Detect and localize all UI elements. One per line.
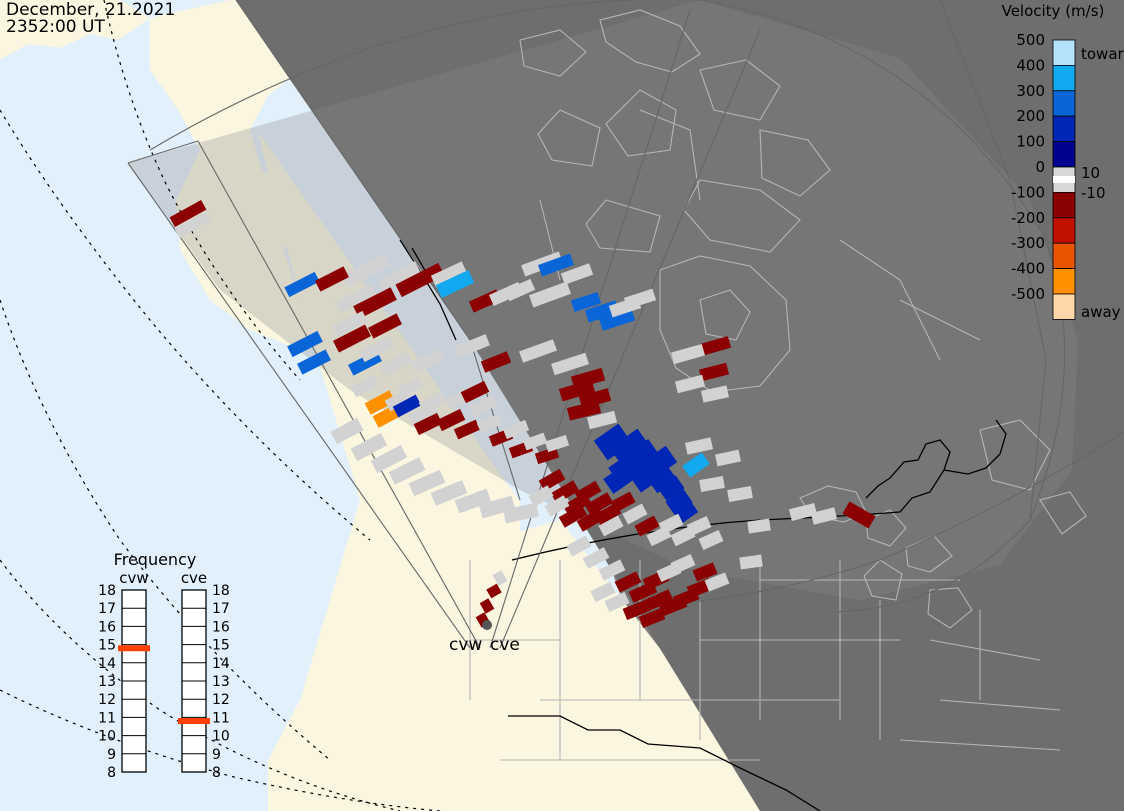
colorbar-label-neg10: -10	[1081, 184, 1106, 202]
colorbar-band	[1053, 269, 1075, 294]
frequency-tick-label: 17	[98, 601, 116, 617]
site-label-cvw: cvw	[449, 635, 482, 655]
colorbar-zero-separator	[1053, 176, 1075, 183]
frequency-tick-label: 8	[212, 765, 221, 781]
frequency-tick-label: 14	[98, 656, 116, 672]
frequency-tick-label: 18	[212, 583, 230, 599]
colorbar-label-pos10: 10	[1081, 164, 1100, 182]
colorbar-band	[1053, 116, 1075, 141]
frequency-tick-label: 11	[98, 710, 116, 726]
frequency-tick-label: 11	[212, 710, 230, 726]
radar-velocity-map: cvw cve December, 21.2021 2352:00 UT Vel…	[0, 0, 1124, 811]
colorbar-tick-label: 200	[1016, 107, 1045, 125]
frequency-tick-label: 16	[212, 619, 230, 635]
colorbar-band	[1053, 218, 1075, 243]
frequency-tick-label: 10	[212, 729, 230, 745]
colorbar-band	[1053, 142, 1075, 167]
site-label-cve: cve	[490, 635, 520, 655]
frequency-tick-label: 14	[212, 656, 230, 672]
frequency-tick-label: 13	[212, 674, 230, 690]
colorbar-band	[1053, 294, 1075, 319]
radar-site-marker	[482, 620, 492, 630]
colorbar-tick-label: -500	[1011, 285, 1045, 303]
colorbar-label-toward: toward	[1081, 45, 1124, 63]
frequency-tick-label: 10	[98, 729, 116, 745]
colorbar-band	[1053, 192, 1075, 217]
colorbar-tick-label: 300	[1016, 82, 1045, 100]
time-label: 2352:00 UT	[6, 17, 105, 37]
colorbar-tick-label: 100	[1016, 133, 1045, 151]
frequency-column-header-cvw: cvw	[119, 569, 148, 587]
colorbar-tick-label: -300	[1011, 234, 1045, 252]
colorbar-tick-label: -400	[1011, 260, 1045, 278]
colorbar-label-away: away	[1081, 303, 1121, 321]
frequency-tick-label: 12	[98, 692, 116, 708]
colorbar-band	[1053, 243, 1075, 268]
frequency-column-header-cve: cve	[181, 569, 207, 587]
frequency-legend-title: Frequency	[114, 550, 197, 569]
frequency-tick-label: 17	[212, 601, 230, 617]
colorbar-tick-label: -200	[1011, 209, 1045, 227]
frequency-tick-label: 9	[107, 747, 116, 763]
frequency-tick-label: 9	[212, 747, 221, 763]
colorbar-band	[1053, 65, 1075, 90]
frequency-tick-label: 18	[98, 583, 116, 599]
frequency-tick-label: 8	[107, 765, 116, 781]
colorbar-tick-label: 400	[1016, 56, 1045, 74]
colorbar-tick-label: 500	[1016, 31, 1045, 49]
frequency-marker	[118, 645, 150, 651]
colorbar-band	[1053, 91, 1075, 116]
frequency-tick-label: 15	[98, 638, 116, 654]
colorbar-tick-label: 0	[1035, 158, 1045, 176]
frequency-marker	[178, 718, 210, 724]
frequency-tick-label: 16	[98, 619, 116, 635]
colorbar-band	[1053, 40, 1075, 65]
colorbar-tick-label: -100	[1011, 183, 1045, 201]
frequency-tick-label: 15	[212, 638, 230, 654]
colorbar-title: Velocity (m/s)	[1002, 2, 1105, 20]
frequency-tick-label: 12	[212, 692, 230, 708]
frequency-tick-label: 13	[98, 674, 116, 690]
